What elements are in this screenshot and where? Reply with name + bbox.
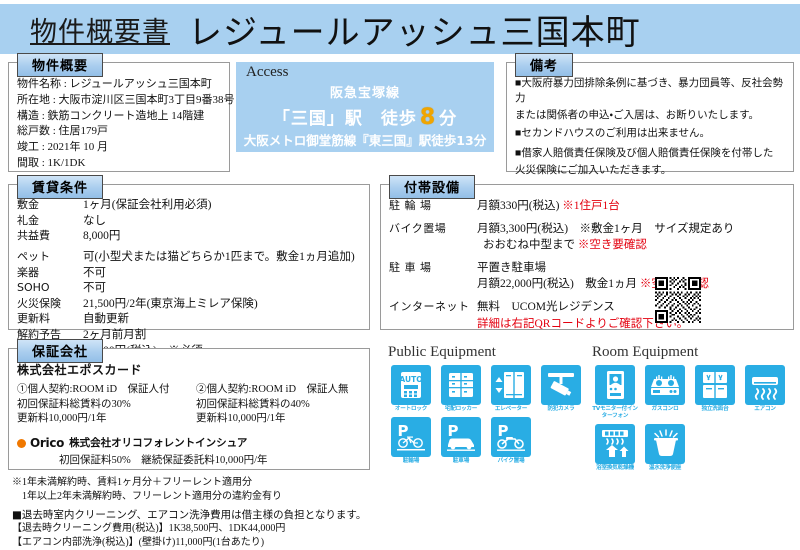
facility-row: 駐 車 場 平置き駐車場 月額22,000円(税込) 敷金1ヵ月 ※空き要確認	[389, 260, 785, 292]
rental-row: 敷金 1ヶ月(保証会社利用必須)	[17, 198, 361, 214]
rental-row-value: 8,000円	[83, 229, 361, 245]
video-intercom-icon	[595, 365, 635, 405]
equipment-label: 駐輪場	[388, 458, 434, 465]
access-section: Access 阪急宝塚線 「三国」駅 徒歩8分 大阪メトロ御堂筋線『東三国』駅徒…	[236, 62, 494, 152]
plan-line: 初回保証料総賃料の40%	[196, 398, 361, 413]
guarantee-plan: ①個人契約:ROOM iD 保証人付 初回保証料総賃料の30% 更新料10,00…	[17, 383, 182, 427]
facility-line: 月額3,300円(税込) ※敷金1ヶ月 サイズ規定あり	[477, 221, 785, 237]
facility-line: 平置き駐車場	[477, 260, 785, 276]
rental-row-key: 敷金	[17, 198, 83, 214]
rental-row-value: 不可	[83, 266, 361, 282]
svg-text:P: P	[398, 422, 409, 440]
equipment-label: 宅配ロッカー	[438, 406, 484, 413]
guarantee-plan: ②個人契約:ROOM iD 保証人無 初回保証料総賃料の40% 更新料10,00…	[196, 383, 361, 427]
equipment-item: TVモニター付インターフォン	[592, 365, 638, 420]
access-secondary-line: 大阪メトロ御堂筋線『東三国』駅徒歩13分	[236, 130, 494, 149]
orico-logo-row: Orico 株式会社オリコフォレントインシュア	[17, 435, 361, 452]
facility-row-key: インターネット	[389, 299, 477, 331]
elevator-icon	[491, 365, 531, 405]
guarantee-heading: 保証会社	[17, 339, 103, 363]
facility-row-value: 月額330円(税込) ※1住戸1台	[477, 198, 785, 214]
overview-line: 竣工 : 2021年 10 月	[17, 140, 221, 156]
guarantee-company-section: 保証会社 株式会社エポスカード ①個人契約:ROOM iD 保証人付 初回保証料…	[8, 348, 370, 470]
facility-row-value: 無料 UCOM光レジデンス 詳細は右記QRコードよりご確認下さい。	[477, 299, 785, 331]
rental-row-key: 礼金	[17, 214, 83, 230]
facility-row-key: 駐 車 場	[389, 260, 477, 292]
equipment-item: エレベーター	[488, 365, 534, 413]
access-station-prefix: 「三国」駅 徒歩	[273, 109, 417, 129]
remark-line: ■セカンドハウスのご利用は出来ません。	[515, 126, 785, 141]
rental-row-key: 更新料	[17, 312, 83, 328]
note-line: 【退去時クリーニング費用(税込)】1K38,500円、1DK44,000円	[12, 522, 432, 536]
rental-row-key: 火災保険	[17, 297, 83, 313]
access-walk-minutes: 8	[417, 105, 439, 130]
equipment-label: TVモニター付インターフォン	[592, 406, 638, 420]
equipment-label: 独立洗面台	[692, 406, 738, 413]
equipment-label: 駐車場	[438, 458, 484, 465]
note-line: ■退去時室内クリーニング、エアコン洗浄費用は借主様の負担となります。	[12, 508, 432, 522]
washlet-icon	[645, 424, 685, 464]
public-equipment-title: Public Equipment	[388, 344, 588, 361]
rental-row: SOHO 不可	[17, 281, 361, 297]
equipment-item: 防犯カメラ	[538, 365, 584, 413]
equipment-label: オートロック	[388, 406, 434, 413]
facility-note: 詳細は右記QRコードよりご確認下さい。	[477, 316, 785, 332]
facility-line: 無料 UCOM光レジデンス	[477, 299, 785, 315]
facility-row-value: 月額3,300円(税込) ※敷金1ヶ月 サイズ規定あり おおむね中型まで ※空き…	[477, 221, 785, 253]
remarks-section: 備考 ■大阪府暴力団排除条例に基づき、暴力団員等、反社会勢力 または関係者の申込…	[506, 62, 794, 172]
motorcycle-parking-icon: P	[491, 417, 531, 457]
rental-row: 楽器 不可	[17, 266, 361, 282]
facility-line-text: 月額22,000円(税込) 敷金1ヵ月	[477, 278, 637, 290]
air-conditioner-icon	[745, 365, 785, 405]
plan-title: ①個人契約:ROOM iD 保証人付	[17, 383, 182, 398]
equipment-item: エアコン	[742, 365, 788, 420]
overview-line: 間取 : 1K/1DK	[17, 156, 221, 172]
rental-row-value: 21,500円/2年(東京海上ミレア保険)	[83, 297, 361, 313]
remark-line: ■借家人賠償責任保険及び個人賠償責任保険を付帯した	[515, 146, 785, 161]
note-line: 1年以上2年未満解約時、フリーレント適用分の違約金有り	[12, 490, 432, 504]
rental-row-value: 自動更新	[83, 312, 361, 328]
remark-line: ■大阪府暴力団排除条例に基づき、暴力団員等、反社会勢力	[515, 76, 785, 106]
auto-lock-icon: AUTO	[391, 365, 431, 405]
car-parking-icon: P	[441, 417, 481, 457]
washstand-icon	[695, 365, 735, 405]
rental-conditions-section: 賃貸条件 敷金 1ヶ月(保証会社利用必須) 礼金 なし 共益費 8,000円 ペ…	[8, 184, 370, 330]
rental-row: 共益費 8,000円	[17, 229, 361, 245]
rental-row-key: 共益費	[17, 229, 83, 245]
plan-line: 更新料10,000円/1年	[17, 412, 182, 427]
rental-row-value: なし	[83, 214, 361, 230]
access-rail-line: 阪急宝塚線	[236, 82, 494, 101]
equipment-label: 防犯カメラ	[538, 406, 584, 413]
equipment-item: 独立洗面台	[692, 365, 738, 420]
facility-row: 駐 輪 場 月額330円(税込) ※1住戸1台	[389, 198, 785, 214]
page-title: レジュールアッシュ三国本町	[188, 5, 641, 54]
equipment-item: 宅配ロッカー	[438, 365, 484, 413]
plan-line: 更新料10,000円/1年	[196, 412, 361, 427]
note-line: ※1年未満解約時、賃料1ヶ月分＋フリーレント適用分	[12, 476, 432, 490]
room-equipment-title: Room Equipment	[592, 344, 796, 361]
access-title: Access	[246, 64, 288, 81]
orico-logo-text: Orico	[30, 435, 64, 452]
remarks-body: ■大阪府暴力団排除条例に基づき、暴力団員等、反社会勢力 または関係者の申込・ご入…	[507, 63, 793, 184]
delivery-locker-icon	[441, 365, 481, 405]
rental-row-key: 楽器	[17, 266, 83, 282]
room-equipment-grid: TVモニター付インターフォン	[592, 365, 796, 472]
public-equipment-grid: AUTO オートロック	[388, 365, 588, 465]
remark-line: または関係者の申込・ご入居は、お断りいたします。	[515, 108, 785, 123]
equipment-item: 温水洗浄便座	[642, 424, 688, 472]
facility-row-value: 平置き駐車場 月額22,000円(税込) 敷金1ヵ月 ※空き要確認	[477, 260, 785, 292]
guarantee-plans: ①個人契約:ROOM iD 保証人付 初回保証料総賃料の30% 更新料10,00…	[17, 383, 361, 427]
overview-line: 総戸数 : 住居179戸	[17, 124, 221, 140]
facilities-section: 付帯設備 駐 輪 場 月額330円(税込) ※1住戸1台 バイク置場 月額3,3…	[380, 184, 794, 330]
rental-row: 火災保険 21,500円/2年(東京海上ミレア保険)	[17, 297, 361, 313]
qr-code[interactable]	[655, 277, 701, 323]
guarantee-body: 株式会社エポスカード ①個人契約:ROOM iD 保証人付 初回保証料総賃料の3…	[9, 349, 369, 473]
remarks-heading: 備考	[515, 53, 573, 77]
equipment-item: 浴室換気乾燥機	[592, 424, 638, 472]
access-station-walk: 「三国」駅 徒歩8分	[236, 104, 494, 130]
equipment-item: P 駐輪場	[388, 417, 434, 465]
svg-text:P: P	[448, 422, 459, 440]
title-banner: 物件概要書 レジュールアッシュ三国本町	[0, 4, 800, 54]
overview-line: 所在地 : 大阪市淀川区三国本町3丁目9番38号	[17, 93, 221, 109]
property-summary-document: 物件概要書 レジュールアッシュ三国本町 物件概要 物件名称 : レジュールアッシ…	[0, 0, 800, 550]
facilities-heading: 付帯設備	[389, 175, 475, 199]
orico-fee-line: 初回保証料50% 継続保証委託料10,000円/年	[17, 454, 361, 469]
room-equipment-section: Room Equipment TVモニター付インターフォン	[592, 344, 796, 472]
document-type-label: 物件概要書	[30, 10, 170, 49]
footer-notes: ※1年未満解約時、賃料1ヶ月分＋フリーレント適用分 1年以上2年未満解約時、フリ…	[12, 476, 432, 550]
plan-title: ②個人契約:ROOM iD 保証人無	[196, 383, 361, 398]
facility-row-key: 駐 輪 場	[389, 198, 477, 214]
property-overview-body: 物件名称 : レジュールアッシュ三国本町 所在地 : 大阪市淀川区三国本町3丁目…	[9, 63, 229, 176]
equipment-item: ガスコンロ	[642, 365, 688, 420]
facility-note: ※1住戸1台	[562, 200, 620, 212]
bicycle-parking-icon: P	[391, 417, 431, 457]
facility-line-2: おおむね中型まで ※空き要確認	[477, 237, 785, 253]
equipment-label: 温水洗浄便座	[642, 465, 688, 472]
facility-line: 月額330円(税込)	[477, 200, 559, 212]
rental-conditions-heading: 賃貸条件	[17, 175, 103, 199]
plan-line: 初回保証料総賃料の30%	[17, 398, 182, 413]
facility-row-key: バイク置場	[389, 221, 477, 253]
rental-row-value: 1ヶ月(保証会社利用必須)	[83, 198, 361, 214]
rental-row: ペット 可(小型犬または猫どちらか1匹まで。敷金1ヵ月追加)	[17, 250, 361, 266]
rental-row-value: 可(小型犬または猫どちらか1匹まで。敷金1ヵ月追加)	[83, 250, 361, 266]
rental-row: 礼金 なし	[17, 214, 361, 230]
security-camera-icon	[541, 365, 581, 405]
facility-line-2: 月額22,000円(税込) 敷金1ヵ月 ※空き要確認	[477, 276, 785, 292]
rental-row-value: 不可	[83, 281, 361, 297]
overview-line: 構造 : 鉄筋コンクリート造地上 14階建	[17, 109, 221, 125]
equipment-label: エレベーター	[488, 406, 534, 413]
note-line: 【エアコン内部洗浄(税込)】(壁掛け)11,000円(1台あたり)	[12, 536, 432, 550]
public-equipment-section: Public Equipment AUTO オートロック	[388, 344, 588, 465]
equipment-item: P バイク置場	[488, 417, 534, 465]
rental-row-key: SOHO	[17, 281, 83, 297]
overview-line: 物件名称 : レジュールアッシュ三国本町	[17, 77, 221, 93]
rental-row: 更新料 自動更新	[17, 312, 361, 328]
equipment-label: ガスコンロ	[642, 406, 688, 413]
guarantee-company-name: 株式会社エポスカード	[17, 362, 361, 379]
equipment-item: AUTO オートロック	[388, 365, 434, 413]
property-overview-section: 物件概要 物件名称 : レジュールアッシュ三国本町 所在地 : 大阪市淀川区三国…	[8, 62, 230, 172]
facilities-body: 駐 輪 場 月額330円(税込) ※1住戸1台 バイク置場 月額3,300円(税…	[381, 185, 793, 343]
access-station-suffix: 分	[439, 109, 457, 129]
facility-row: バイク置場 月額3,300円(税込) ※敷金1ヶ月 サイズ規定あり おおむね中型…	[389, 221, 785, 253]
rental-conditions-body: 敷金 1ヶ月(保証会社利用必須) 礼金 なし 共益費 8,000円 ペット 可(…	[9, 185, 369, 363]
remark-line: 火災保険にご加入いただきます。	[515, 163, 785, 178]
equipment-item: P 駐車場	[438, 417, 484, 465]
rental-row-value: 2ヶ月前月割	[83, 328, 361, 344]
equipment-label: 浴室換気乾燥機	[592, 465, 638, 472]
rental-row-key: ペット	[17, 250, 83, 266]
orico-company-name: 株式会社オリコフォレントインシュア	[69, 436, 247, 451]
equipment-label: エアコン	[742, 406, 788, 413]
facility-note: ※空き要確認	[578, 239, 647, 251]
facility-line-text: おおむね中型まで	[483, 239, 575, 251]
orico-dot-icon	[17, 439, 26, 448]
property-overview-heading: 物件概要	[17, 53, 103, 77]
gas-stove-icon	[645, 365, 685, 405]
svg-text:AUTO: AUTO	[399, 375, 422, 384]
facility-row: インターネット 無料 UCOM光レジデンス 詳細は右記QRコードよりご確認下さい…	[389, 299, 785, 331]
bathroom-dryer-icon	[595, 424, 635, 464]
equipment-label: バイク置場	[488, 458, 534, 465]
